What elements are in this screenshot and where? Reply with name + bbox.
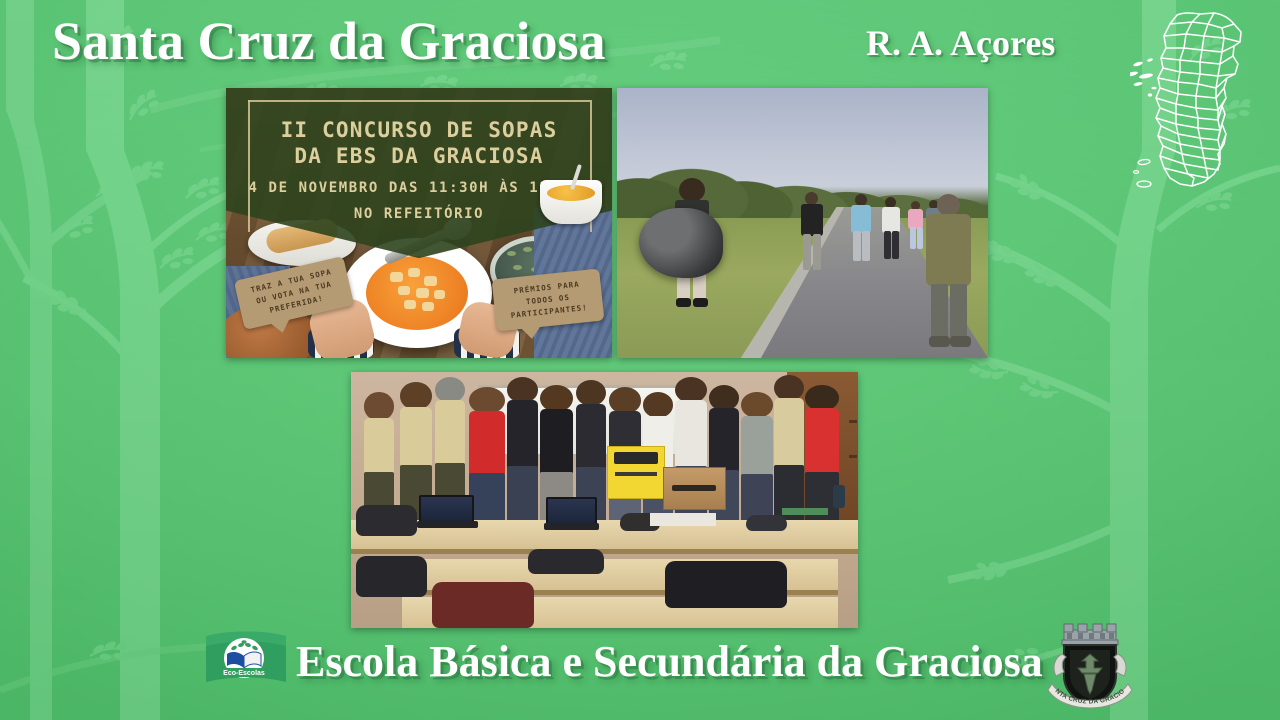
classroom-person-5: [507, 377, 538, 520]
callout-right-line3: participantes!: [510, 303, 588, 321]
callout-right-line1: Prémios para: [513, 279, 580, 296]
classroom-person-13: [774, 375, 804, 521]
coat-of-arms: SANTA CRUZ DA GRACIOSA: [1040, 620, 1140, 716]
portugal-azores-map-icon: [1130, 2, 1280, 192]
classroom-laptop-1: [417, 495, 478, 531]
eco-escolas-logo: Eco-Escolas: [200, 628, 292, 702]
classroom-cardboard-box: [663, 467, 726, 510]
classroom-person-1: [364, 392, 394, 520]
classroom-bag-5: [665, 561, 787, 607]
poster-heading-line2: da EBS da GRACIOSA: [226, 144, 612, 168]
municipality-title: Santa Cruz da Graciosa: [52, 14, 606, 68]
region-title: R. A. Açores: [866, 22, 1055, 64]
soup-contest-poster-image[interactable]: II Concurso de SOPAS da EBS da GRACIOSA …: [226, 88, 612, 358]
classroom-bag-7: [356, 556, 427, 597]
classroom-papers: [650, 513, 716, 526]
classroom-bag-3: [746, 515, 787, 530]
classroom-person-12: [741, 392, 772, 520]
school-title: Escola Básica e Secundária da Graciosa: [296, 636, 1043, 687]
poster-heading-line1: II Concurso de SOPAS: [226, 118, 612, 142]
classroom-bag-1: [356, 505, 417, 536]
poster-canvas: Santa Cruz da Graciosa R. A. Açores: [0, 0, 1280, 720]
poster-rule-top: [248, 100, 590, 102]
classroom-folder: [782, 508, 828, 516]
classroom-bag-4: [528, 549, 604, 575]
classroom-yellow-poster: [607, 446, 665, 499]
classroom-bottle: [833, 485, 846, 508]
litter-cleanup-photo[interactable]: [617, 88, 988, 358]
cleanup-trash-bag: [639, 208, 723, 278]
eco-escolas-label: Eco-Escolas: [223, 670, 265, 677]
classroom-laptop-2: [544, 497, 600, 533]
classroom-group-photo[interactable]: [351, 372, 858, 628]
classroom-bag-6: [432, 582, 533, 628]
poster-small-soup-cup: [540, 180, 602, 224]
